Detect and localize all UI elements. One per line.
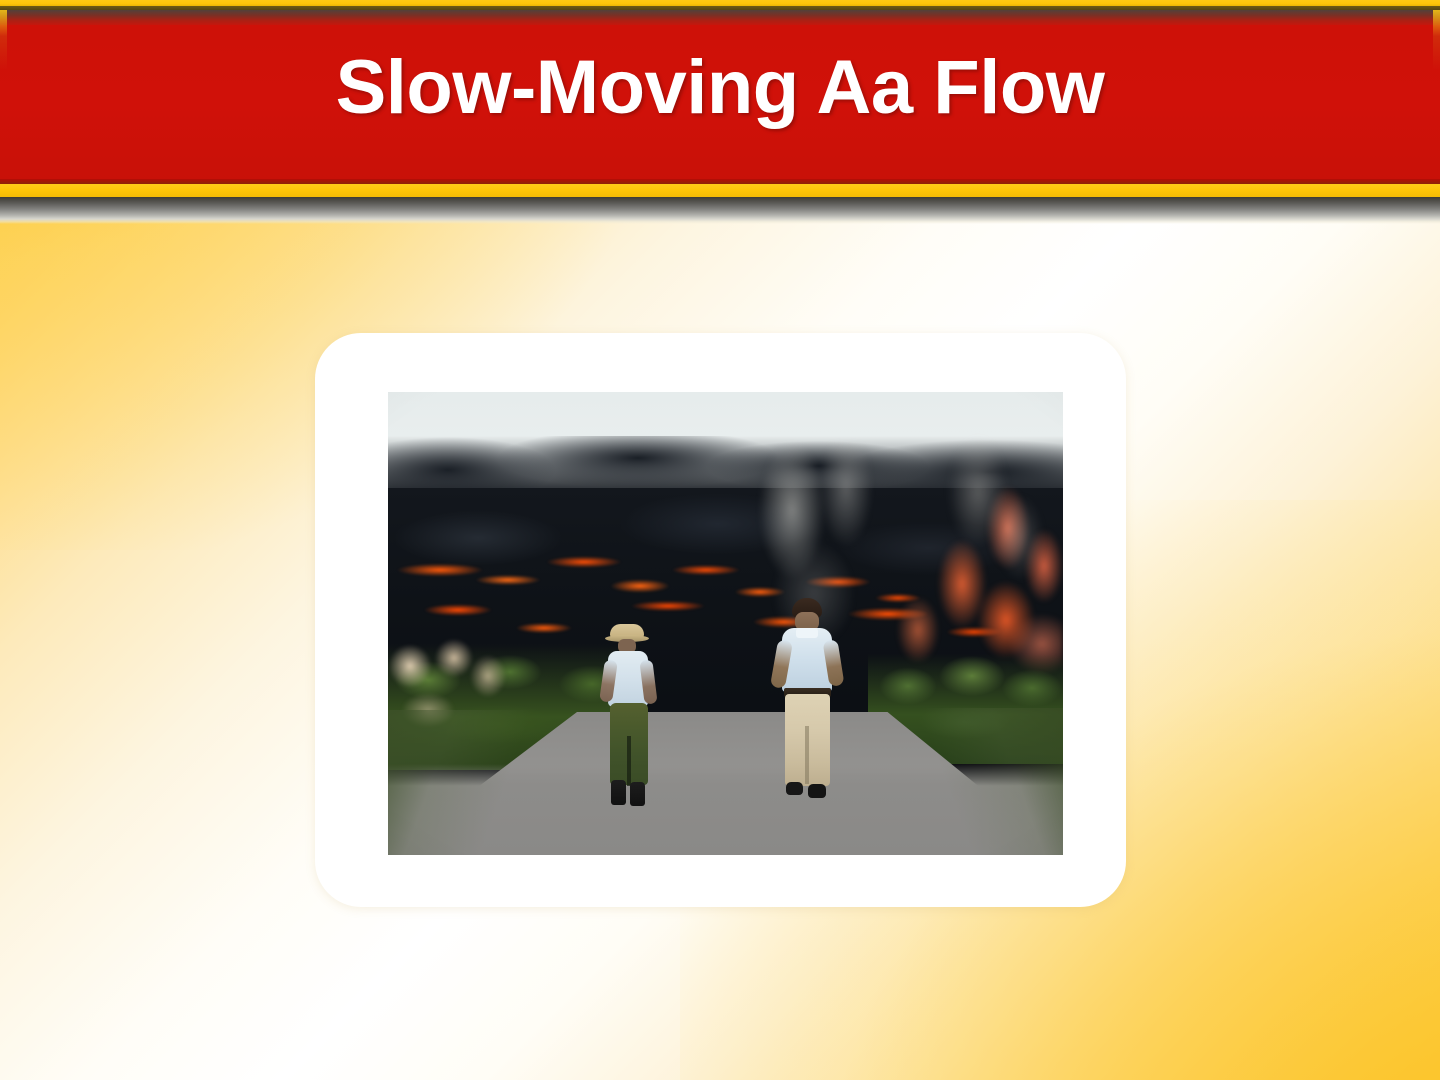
photo-person-right: [774, 598, 842, 814]
person-left-boot-right: [630, 782, 645, 806]
person-right-shoe-right: [808, 784, 826, 798]
banner-gold-bottom-stripe: [0, 184, 1440, 197]
banner-top-fade: [0, 10, 1440, 26]
person-right-leg-gap: [805, 726, 809, 784]
photo-frame: [315, 333, 1126, 907]
slide-title: Slow-Moving Aa Flow: [0, 36, 1440, 140]
person-left-leg-gap: [627, 736, 631, 786]
banner-drop-shadow: [0, 197, 1440, 224]
person-left-boot-left: [611, 780, 626, 805]
photo-road-edge-right: [818, 708, 1063, 855]
lava-flow-photo: [388, 392, 1063, 855]
person-right-shoe-left: [786, 782, 803, 795]
slide-root: Slow-Moving Aa Flow: [0, 0, 1440, 1080]
title-banner: Slow-Moving Aa Flow: [0, 0, 1440, 226]
person-right-collar: [796, 628, 818, 638]
photo-smoke-plume-right: [908, 432, 1063, 632]
photo-person-left: [602, 624, 656, 814]
